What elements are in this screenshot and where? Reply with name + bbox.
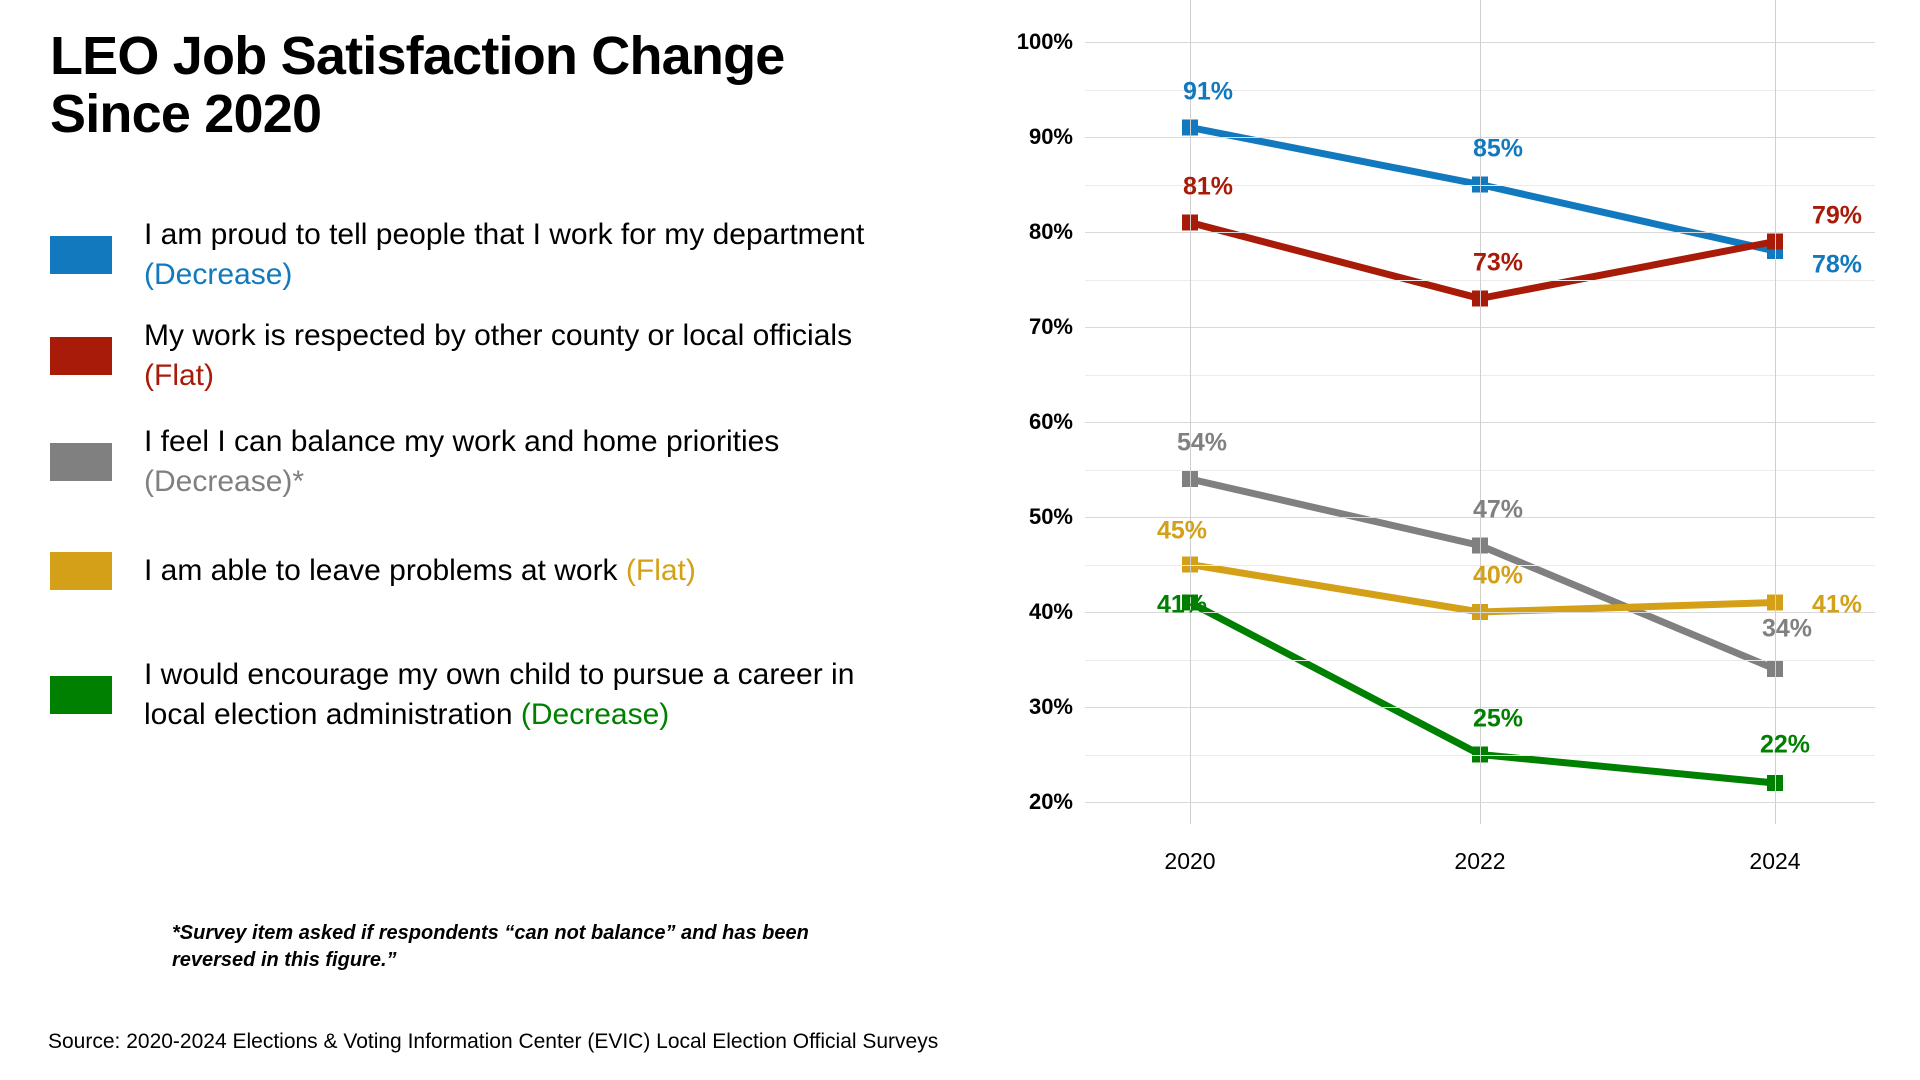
x-tick-label: 2022 [1454, 848, 1505, 875]
legend-trend-tag: (Decrease) [144, 258, 292, 291]
data-point-label: 78% [1812, 251, 1862, 280]
y-tick-label: 60% [1029, 409, 1073, 435]
data-point-label: 91% [1183, 77, 1233, 106]
y-tick-label: 40% [1029, 599, 1073, 625]
data-point-label: 81% [1183, 172, 1233, 201]
data-point-label: 79% [1812, 201, 1862, 230]
category-vline [1190, 0, 1191, 824]
data-point-label: 45% [1157, 516, 1207, 545]
data-point-label: 25% [1473, 704, 1523, 733]
y-axis: 20%30%40%50%60%70%80%90%100% [960, 0, 1085, 1000]
source-note: Source: 2020-2024 Elections & Voting Inf… [48, 1030, 938, 1054]
category-vline [1775, 0, 1776, 824]
legend-trend-tag: (Flat) [626, 554, 696, 587]
data-point-label: 41% [1157, 590, 1207, 619]
y-tick-label: 90% [1029, 124, 1073, 150]
legend-item-label: I am able to leave problems at work (Fla… [144, 551, 904, 591]
y-tick-label: 30% [1029, 694, 1073, 720]
legend-item-label: I feel I can balance my work and home pr… [144, 422, 904, 501]
x-tick-label: 2024 [1749, 848, 1800, 875]
legend-trend-tag: (Decrease) [521, 698, 669, 731]
category-vline [1480, 0, 1481, 824]
legend-item: I am proud to tell people that I work fo… [50, 205, 940, 305]
axis-baseline [1085, 802, 1875, 803]
legend-statement: I am able to leave problems at work [144, 554, 626, 587]
legend-item-label: My work is respected by other county or … [144, 316, 904, 395]
legend-statement: I am proud to tell people that I work fo… [144, 218, 864, 251]
page-title: LEO Job Satisfaction Change Since 2020 [50, 28, 930, 144]
x-tick-label: 2020 [1164, 848, 1215, 875]
legend-item: I am able to leave problems at work (Fla… [50, 517, 940, 625]
legend-trend-tag: (Decrease)* [144, 465, 304, 498]
data-point-label: 73% [1473, 248, 1523, 277]
y-tick-label: 80% [1029, 219, 1073, 245]
legend-swatch-gray [50, 443, 112, 481]
legend-statement: My work is respected by other county or … [144, 319, 852, 352]
legend-swatch-gold [50, 552, 112, 590]
x-axis: 202020222024 [1085, 824, 1875, 884]
y-tick-label: 50% [1029, 504, 1073, 530]
footnote-text: *Survey item asked if respondents “can n… [172, 920, 832, 974]
legend-item: I feel I can balance my work and home pr… [50, 407, 940, 517]
legend-statement: I would encourage my own child to pursue… [144, 658, 854, 731]
y-tick-label: 70% [1029, 314, 1073, 340]
legend-trend-tag: (Flat) [144, 359, 214, 392]
legend: I am proud to tell people that I work fo… [50, 205, 940, 765]
data-point-label: 34% [1762, 615, 1812, 644]
legend-swatch-green [50, 676, 112, 714]
legend-item-label: I am proud to tell people that I work fo… [144, 215, 904, 294]
legend-item: My work is respected by other county or … [50, 305, 940, 407]
legend-swatch-red [50, 337, 112, 375]
data-point-label: 40% [1473, 562, 1523, 591]
data-point-label: 41% [1812, 590, 1862, 619]
data-point-label: 47% [1473, 495, 1523, 524]
legend-statement: I feel I can balance my work and home pr… [144, 425, 779, 458]
data-point-label: 85% [1473, 134, 1523, 163]
legend-item: I would encourage my own child to pursue… [50, 625, 940, 765]
data-point-label: 54% [1177, 429, 1227, 458]
y-tick-label: 20% [1029, 789, 1073, 815]
chart-panel: 20%30%40%50%60%70%80%90%100% 91%85%78%81… [960, 0, 1920, 1080]
y-tick-label: 100% [1017, 29, 1073, 55]
info-panel: LEO Job Satisfaction Change Since 2020 I… [0, 0, 960, 1080]
legend-item-label: I would encourage my own child to pursue… [144, 655, 904, 734]
legend-swatch-blue [50, 236, 112, 274]
data-point-label: 22% [1760, 731, 1810, 760]
